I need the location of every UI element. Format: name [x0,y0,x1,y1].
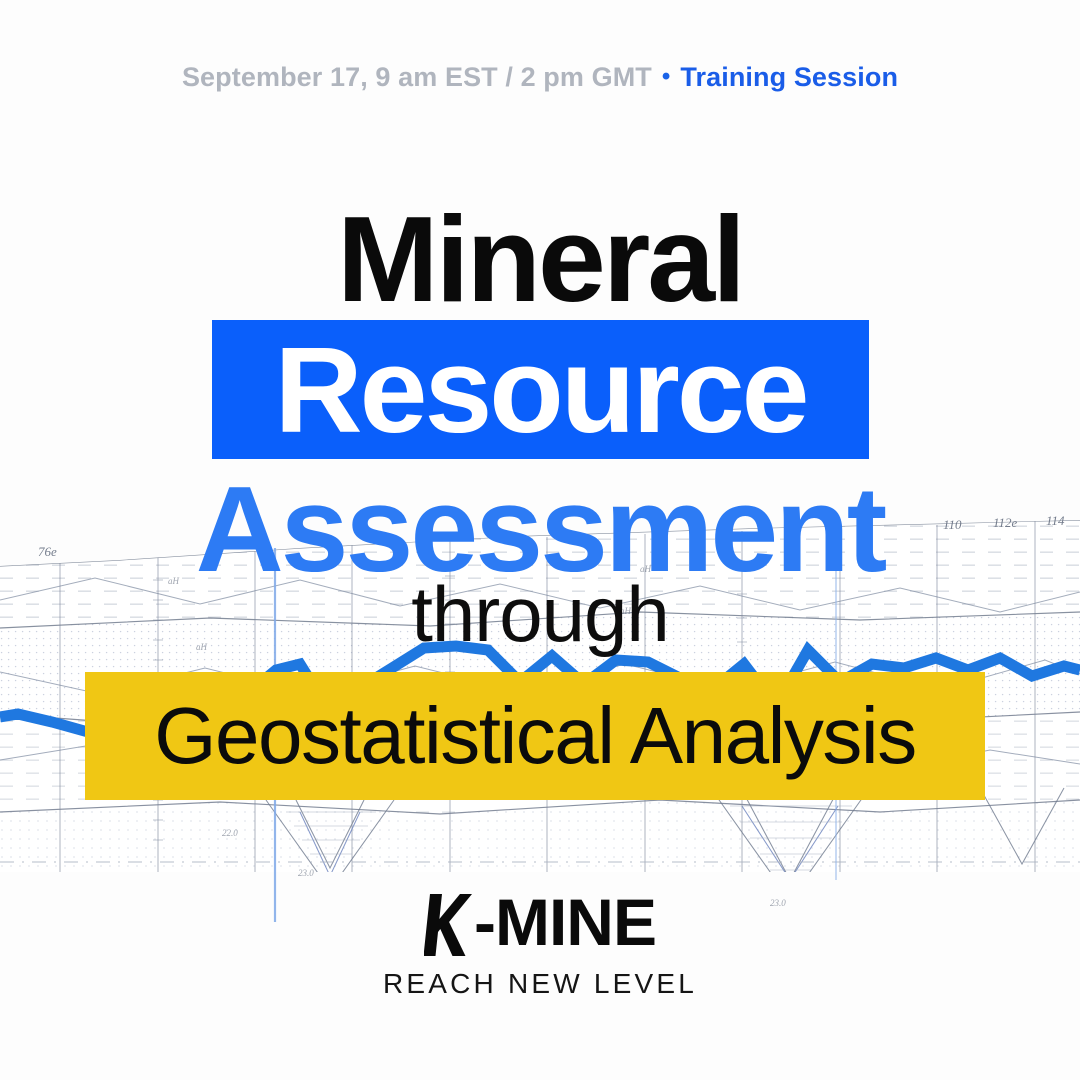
headline-line-2: Resource [212,320,869,459]
headline-line-5: Geostatistical Analysis [85,672,985,800]
logo-wordmark: -MINE [474,890,656,955]
svg-text:22.0: 22.0 [222,828,238,838]
logo-lockup: -MINE [424,890,656,955]
poster-canvas: 76e 110 112e 114 aH aH aH aH 23.0 23.0 2… [0,0,1080,1080]
svg-text:23.0: 23.0 [298,868,314,878]
brand-logo: -MINE REACH NEW LEVEL [0,890,1080,1000]
logo-tagline: REACH NEW LEVEL [0,968,1080,1000]
k-mine-k-glyph-icon [424,894,472,956]
headline-line-4: through [0,575,1080,653]
event-meta-row: September 17, 9 am EST / 2 pm GMT•Traini… [0,62,1080,93]
headline-line-1: Mineral [0,198,1080,320]
event-date: September 17, 9 am EST / 2 pm GMT [182,62,652,92]
event-type-tag: Training Session [680,62,898,92]
bullet-separator-icon: • [652,63,681,90]
